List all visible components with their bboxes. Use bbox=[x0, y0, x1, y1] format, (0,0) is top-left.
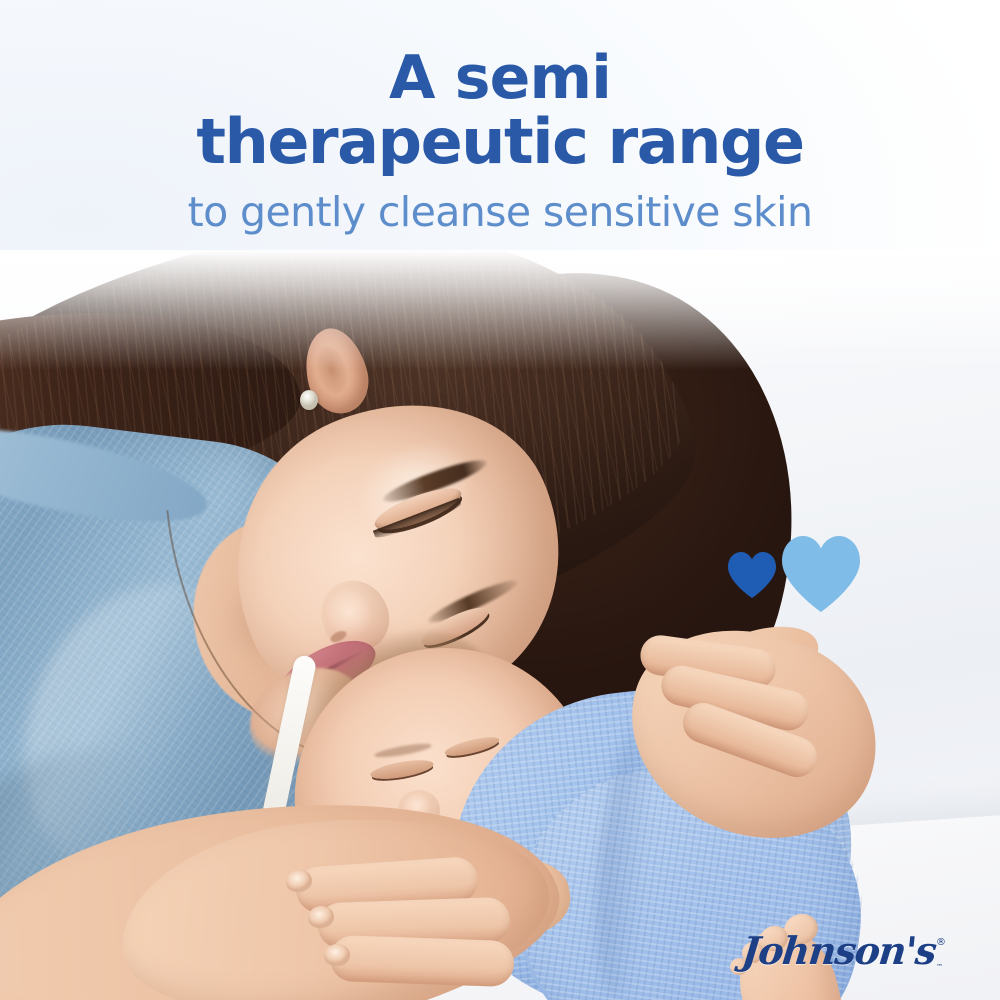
mother-finger-3 bbox=[329, 935, 514, 987]
ad-canvas: A semi therapeutic range to gently clean… bbox=[0, 0, 1000, 1000]
registered-trademark-icon: ® bbox=[936, 938, 946, 948]
logo-wordmark: Johnson's bbox=[740, 932, 937, 970]
mother-earring bbox=[300, 390, 318, 410]
heart-icon-small bbox=[728, 552, 776, 598]
heart-icon-large bbox=[782, 536, 860, 612]
hearts-graphic bbox=[722, 532, 872, 632]
johnsons-logo: Johnson's ® ™ bbox=[742, 932, 952, 970]
trademark-icon: ™ bbox=[936, 964, 943, 971]
